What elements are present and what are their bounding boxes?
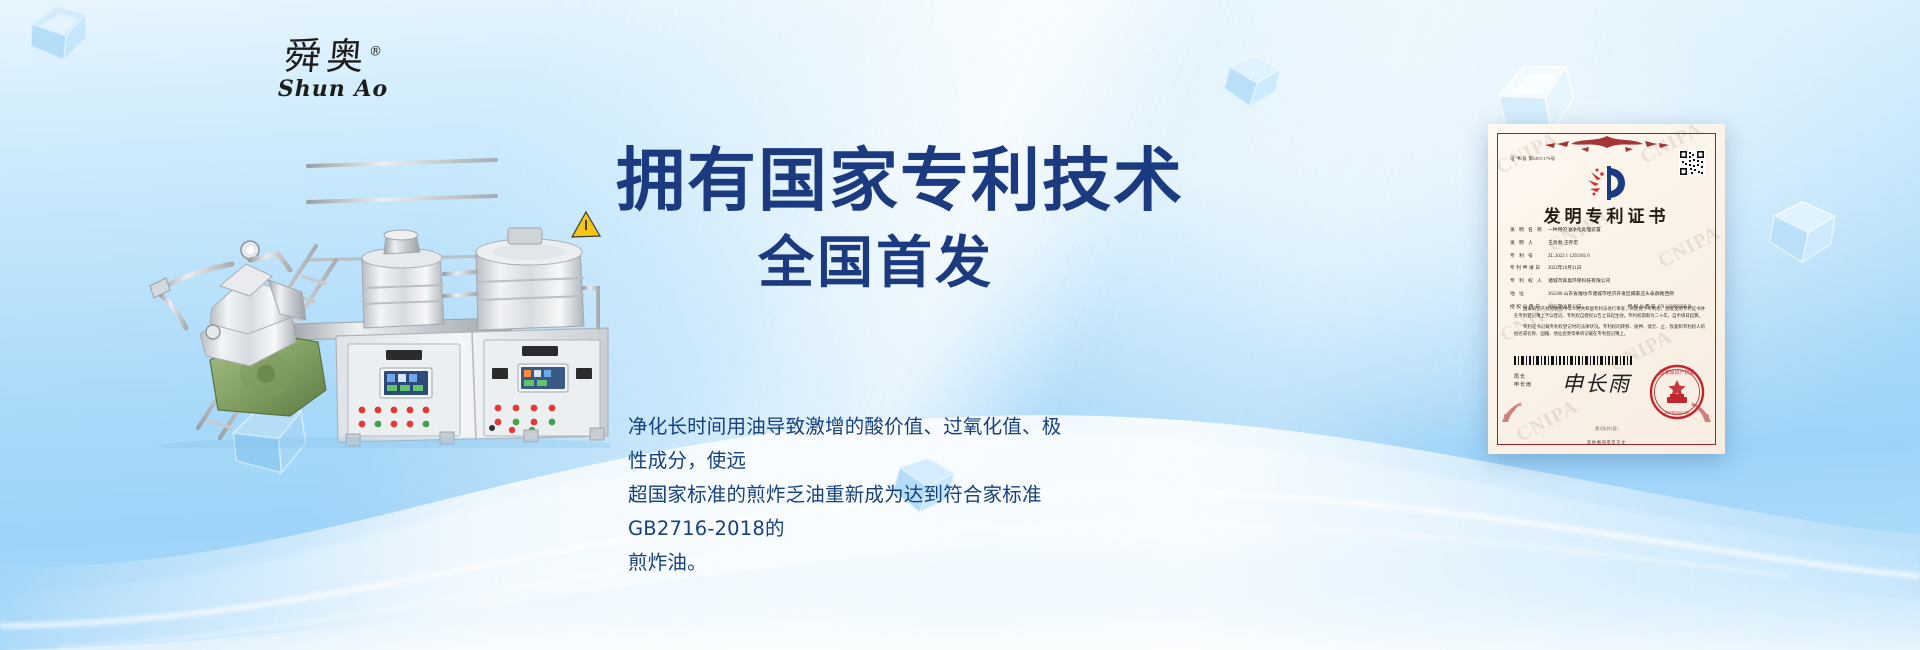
certificate-serial: 证 书 号 第6851179号 — [1510, 156, 1555, 162]
brand-logo-chinese: 舜奥® — [266, 38, 399, 75]
headline-primary: 拥有国家专利技术 — [616, 147, 1136, 216]
certificate-field-row: 地 址 262200 山东省潍坊市诸城市经济开发区臧家庄头泰薛路西侧 — [1510, 292, 1707, 297]
certificate-footer-note: 其他事项参见正文 — [1488, 440, 1725, 446]
brand-logo-latin: Shun Ao — [268, 78, 398, 100]
promo-banner: 舜奥® Shun Ao — [0, 0, 1920, 650]
cnipa-crest-icon — [1585, 164, 1629, 202]
certificate-field-row: 专 利 权 人 诸城市舜奥环保科技有限公司 — [1510, 279, 1707, 284]
svg-text:国家知识产权局: 国家知识产权局 — [1659, 369, 1694, 376]
certificate-field-row: 专利申请日 2022年10月21日 — [1510, 266, 1707, 271]
certificate-page-note: 第1页(共2页) — [1488, 426, 1725, 432]
ice-cube-decoration — [1764, 196, 1840, 272]
headline-secondary: 全国首发 — [616, 236, 1136, 292]
certificate-field-row: 发 明 人 王真春;王存宏 — [1510, 241, 1707, 246]
patent-certificate-image: CNIPA CNIPA CNIPA CNIPA CNIPA CNIPA CNIP… — [1488, 124, 1725, 454]
certificate-corner-ornament — [1679, 390, 1713, 424]
registered-trademark-icon: ® — [368, 45, 382, 60]
description-block: 净化长时间用油导致激增的酸价值、过氧化值、极性成分，使远 超国家标准的煎炸乏油重… — [628, 410, 1080, 580]
certificate-body-text: 国家知识产权局依照中华人民共和国专利法进行审查，决定授予专利权，颁发发明专利证书… — [1514, 306, 1705, 342]
certificate-field-row: 发 明 名 称 一种用的油净化处理装置 — [1510, 228, 1707, 233]
certificate-director-label: 局长申长雨 — [1514, 374, 1532, 389]
oil-purification-machine-image — [140, 128, 610, 448]
certificate-fields: 发 明 名 称 一种用的油净化处理装置 发 明 人 王真春;王存宏 专 利 号 … — [1510, 228, 1707, 317]
qr-code-icon — [1679, 150, 1705, 176]
barcode-icon — [1514, 356, 1632, 365]
certificate-field-row: 专 利 号 ZL 2022 1 1292181.6 — [1510, 254, 1707, 259]
certificate-corner-ornament — [1500, 390, 1534, 424]
description-line-2: 超国家标准的煎炸乏油重新成为达到符合家标准GB2716-2018的 — [628, 478, 1080, 546]
ice-cube-decoration — [1221, 52, 1283, 114]
ice-cube-decoration — [26, 2, 92, 66]
description-line-1: 净化长时间用油导致激增的酸价值、过氧化值、极性成分，使远 — [628, 410, 1080, 478]
certificate-ornament — [1537, 134, 1677, 154]
brand-logo: 舜奥® Shun Ao — [268, 38, 398, 100]
headline-block: 拥有国家专利技术 全国首发 — [616, 147, 1136, 292]
certificate-director-signature: 申长雨 — [1562, 368, 1631, 398]
warning-triangle-icon — [572, 212, 600, 237]
description-line-3: 煎炸油。 — [628, 546, 1080, 580]
certificate-paragraph: 专利证书记载专利权登记时的法律状况。专利权的转移、质押、保全、止、恢复和专利权人… — [1514, 324, 1705, 337]
certificate-paragraph: 国家知识产权局依照中华人民共和国专利法进行审查，决定授予专利权，颁发发明专利证书… — [1514, 306, 1705, 319]
certificate-title: 发明专利证书 — [1488, 202, 1725, 227]
